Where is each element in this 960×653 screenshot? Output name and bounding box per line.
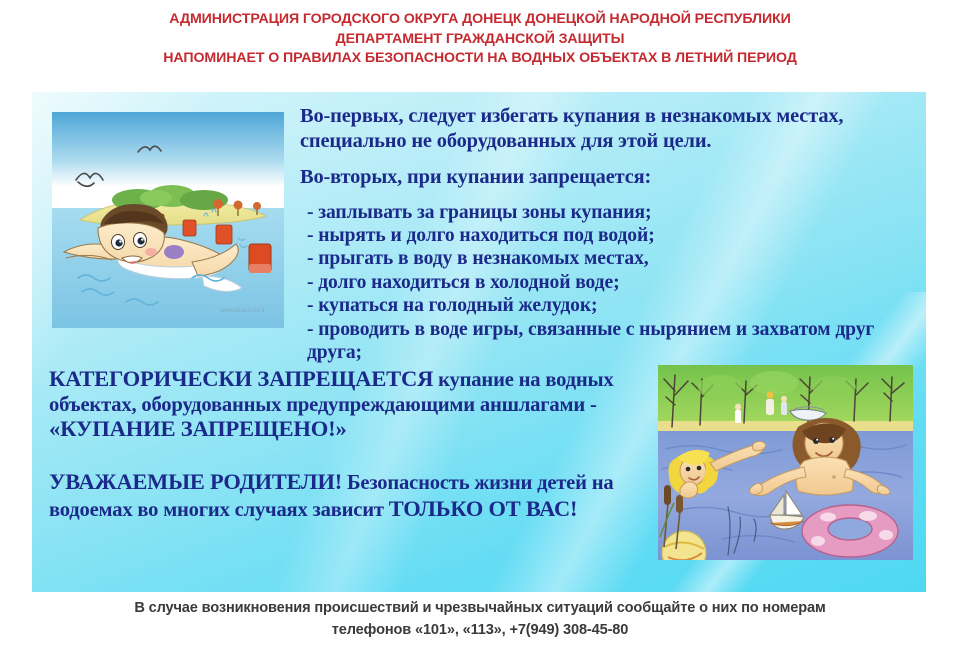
rule-paragraph-1: Во-первых, следует избегать купания в не… bbox=[300, 104, 918, 153]
header-line-2: ДЕПАРТАМЕНТ ГРАЖДАНСКОЙ ЗАЩИТЫ bbox=[0, 30, 960, 50]
parents-caps-lead: УВАЖАЕМЫЕ РОДИТЕЛИ! bbox=[49, 469, 342, 494]
prohibitions-list: - заплывать за границы зоны купания; - н… bbox=[300, 201, 918, 365]
list-item: - проводить в воде игры, связанные с ныр… bbox=[307, 318, 918, 365]
footer-line-2: телефонов «101», «113», +7(949) 308-45-8… bbox=[0, 620, 960, 642]
footer-line-1: В случае возникновения происшествий и чр… bbox=[0, 598, 960, 620]
warning-text-block: КАТЕГОРИЧЕСКИ ЗАПРЕЩАЕТСЯ купание на вод… bbox=[49, 367, 649, 523]
header-line-3: НАПОМИНАЕТ О ПРАВИЛАХ БЕЗОПАСНОСТИ НА ВО… bbox=[0, 49, 960, 69]
rule-paragraph-2: Во-вторых, при купании запрещается: bbox=[300, 165, 918, 190]
header-line-1: АДМИНИСТРАЦИЯ ГОРОДСКОГО ОКРУГА ДОНЕЦК Д… bbox=[0, 10, 960, 30]
parents-appeal-paragraph: УВАЖАЕМЫЕ РОДИТЕЛИ! Безопасность жизни д… bbox=[49, 469, 649, 523]
poster-header: АДМИНИСТРАЦИЯ ГОРОДСКОГО ОКРУГА ДОНЕЦК Д… bbox=[0, 10, 960, 69]
absolute-ban-paragraph: КАТЕГОРИЧЕСКИ ЗАПРЕЩАЕТСЯ купание на вод… bbox=[49, 367, 649, 443]
list-item: - купаться на голодный желудок; bbox=[307, 294, 918, 317]
swimming-boy-artwork: www.kira-il.co.il bbox=[52, 112, 284, 328]
parents-caps-emphasis: ТОЛЬКО ОТ ВАС! bbox=[389, 496, 577, 521]
rules-text-block: Во-первых, следует избегать купания в не… bbox=[300, 104, 918, 364]
list-item: - прыгать в воду в незнакомых местах, bbox=[307, 247, 918, 270]
swimming-boy-illustration: www.kira-il.co.il bbox=[52, 112, 284, 328]
rescue-scene-artwork bbox=[658, 365, 913, 560]
illustration-watermark: www.kira-il.co.il bbox=[219, 307, 265, 314]
list-item: - нырять и долго находиться под водой; bbox=[307, 224, 918, 247]
list-item: - долго находиться в холодной воде; bbox=[307, 271, 918, 294]
rescue-scene-illustration bbox=[658, 365, 913, 560]
poster-footer: В случае возникновения происшествий и чр… bbox=[0, 598, 960, 641]
poster-panel: www.kira-il.co.il bbox=[32, 92, 926, 592]
list-item: - заплывать за границы зоны купания; bbox=[307, 201, 918, 224]
ban-caps-lead: КАТЕГОРИЧЕСКИ ЗАПРЕЩАЕТСЯ bbox=[49, 366, 433, 391]
ban-caps-sign: «КУПАНИЕ ЗАПРЕЩЕНО!» bbox=[49, 416, 347, 441]
